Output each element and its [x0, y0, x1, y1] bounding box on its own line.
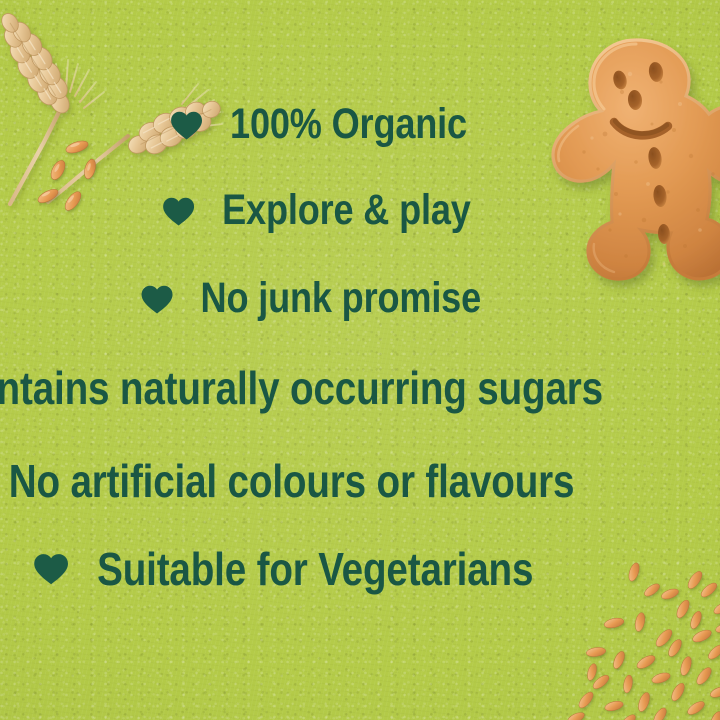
- benefit-row: Explore & play: [0, 184, 700, 238]
- benefit-label: Suitable for Vegetarians: [97, 546, 533, 592]
- heart-icon: [162, 196, 195, 226]
- heart-icon: [33, 552, 69, 585]
- product-benefits-panel: 100% OrganicExplore & playNo junk promis…: [0, 0, 720, 720]
- benefit-label: No artificial colours or flavours: [9, 458, 575, 504]
- benefit-row: No junk promise: [0, 272, 698, 326]
- benefit-row: Suitable for Vegetarians: [0, 540, 685, 598]
- benefits-list: 100% OrganicExplore & playNo junk promis…: [0, 0, 720, 720]
- benefit-label: Contains naturally occurring sugars: [0, 365, 603, 411]
- benefit-row: 100% Organic: [0, 98, 701, 152]
- benefit-label: 100% Organic: [230, 103, 467, 146]
- benefit-label: Explore & play: [222, 189, 471, 232]
- benefit-row: No artificial colours or flavours: [0, 452, 675, 510]
- heart-icon: [170, 110, 203, 140]
- benefit-row: Contains naturally occurring sugars: [0, 359, 667, 417]
- heart-icon: [141, 284, 174, 314]
- benefit-label: No junk promise: [201, 277, 481, 320]
